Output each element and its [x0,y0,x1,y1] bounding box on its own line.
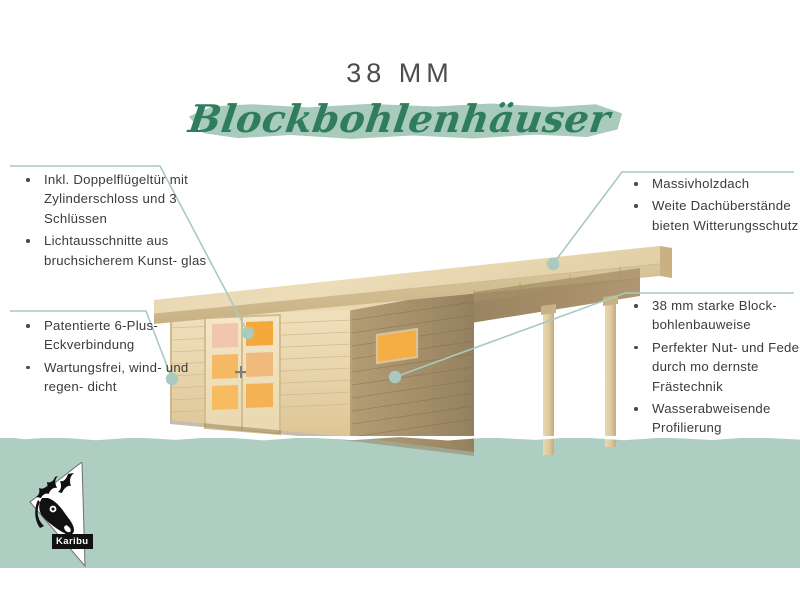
page-subtitle-thickness: 38 MM [0,58,800,89]
feature-list-left-2: Patentierte 6-Plus- Eckverbindung Wartun… [22,316,222,397]
list-item: Wartungsfrei, wind- und regen- dicht [22,358,222,397]
list-item: Massivholzdach [630,174,800,193]
support-post-left [543,311,554,455]
caribou-head-icon [22,462,102,570]
list-item: Perfekter Nut- und Federsitz durch mo de… [630,338,800,396]
brand-logo: Karibu [22,462,102,570]
logo-wordmark: Karibu [52,534,93,549]
list-item: 38 mm starke Block- bohlenbauweise [630,296,800,335]
page-title: Blockbohlenhäuser [186,96,613,141]
list-item: Lichtausschnitte aus bruchsicherem Kunst… [22,231,222,270]
list-item: Wasserabweisende Profilierung [630,399,800,438]
callout-group-left-1: Inkl. Doppelflügeltür mit Zylinderschlos… [22,170,222,273]
page-title-wrap: Blockbohlenhäuser [0,96,800,150]
list-item: Weite Dachüberstände bieten Witterungssc… [630,196,800,235]
infographic-canvas: 38 MM Blockbohlenhäuser Inkl. Doppelflüg… [0,0,800,600]
support-post-right [605,302,616,447]
roof-end-face [660,246,672,278]
feature-list-right-1: Massivholzdach Weite Dachüberstände biet… [630,174,800,235]
feature-list-right-2: 38 mm starke Block- bohlenbauweise Perfe… [630,296,800,438]
list-item: Inkl. Doppelflügeltür mit Zylinderschlos… [22,170,222,228]
callout-group-right-1: Massivholzdach Weite Dachüberstände biet… [630,174,800,238]
callout-group-left-2: Patentierte 6-Plus- Eckverbindung Wartun… [22,316,222,400]
feature-list-left-1: Inkl. Doppelflügeltür mit Zylinderschlos… [22,170,222,270]
list-item: Patentierte 6-Plus- Eckverbindung [22,316,222,355]
callout-group-right-2: 38 mm starke Block- bohlenbauweise Perfe… [630,296,800,441]
